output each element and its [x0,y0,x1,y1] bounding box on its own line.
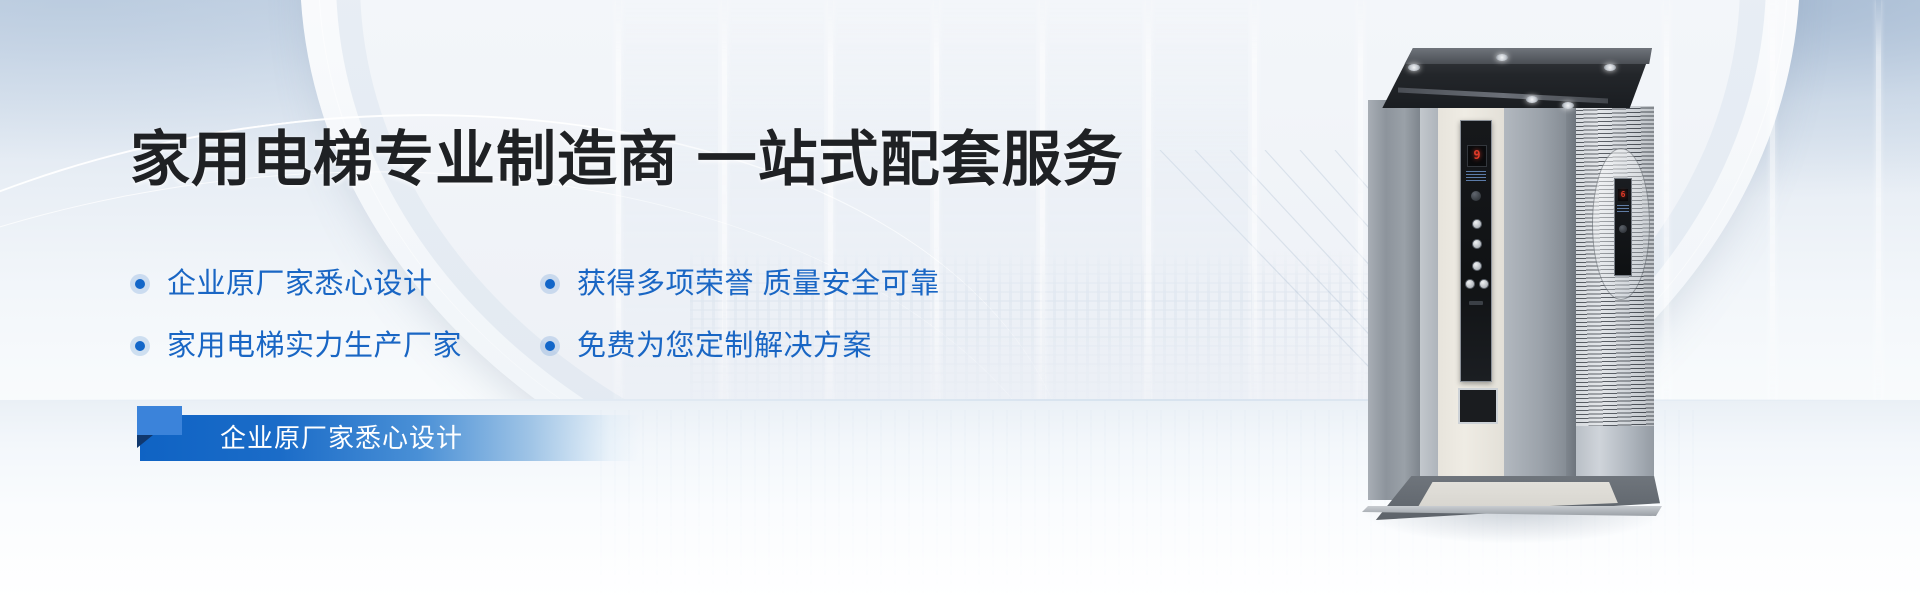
feature-row-2: 家用电梯实力生产厂家 免费为您定制解决方案 [130,315,1130,377]
feature-item-3: 家用电梯实力生产厂家 [130,332,540,361]
feature-item-4: 免费为您定制解决方案 [540,332,872,361]
banner-ribbon[interactable]: 企业原厂家悉心设计 [140,415,640,461]
feature-item-2-label: 获得多项荣誉 质量安全可靠 [577,270,940,299]
banner-content: 家用电梯专业制造商 一站式配套服务 企业原厂家悉心设计 获得多项荣誉 质量安全可… [0,0,1920,600]
banner-feature-list: 企业原厂家悉心设计 获得多项荣誉 质量安全可靠 家用电梯实力生产厂家 免费为您定… [130,253,1130,377]
feature-item-4-label: 免费为您定制解决方案 [577,332,872,361]
banner-stage: 9 6 家用电梯专业制造商 一站式配套服务 [0,0,1920,600]
bullet-dot-icon [130,274,150,294]
feature-item-2: 获得多项荣誉 质量安全可靠 [540,270,940,299]
ribbon-fold-corner [137,435,153,448]
feature-item-3-label: 家用电梯实力生产厂家 [167,332,462,361]
ribbon-tab-accent [137,406,182,435]
feature-item-1: 企业原厂家悉心设计 [130,270,540,299]
banner-headline: 家用电梯专业制造商 一站式配套服务 [130,130,1124,190]
feature-item-1-label: 企业原厂家悉心设计 [167,270,433,299]
bullet-dot-icon [540,274,560,294]
feature-row-1: 企业原厂家悉心设计 获得多项荣誉 质量安全可靠 [130,253,1130,315]
bullet-dot-icon [130,336,150,356]
ribbon-label: 企业原厂家悉心设计 [220,425,463,451]
bullet-dot-icon [540,336,560,356]
